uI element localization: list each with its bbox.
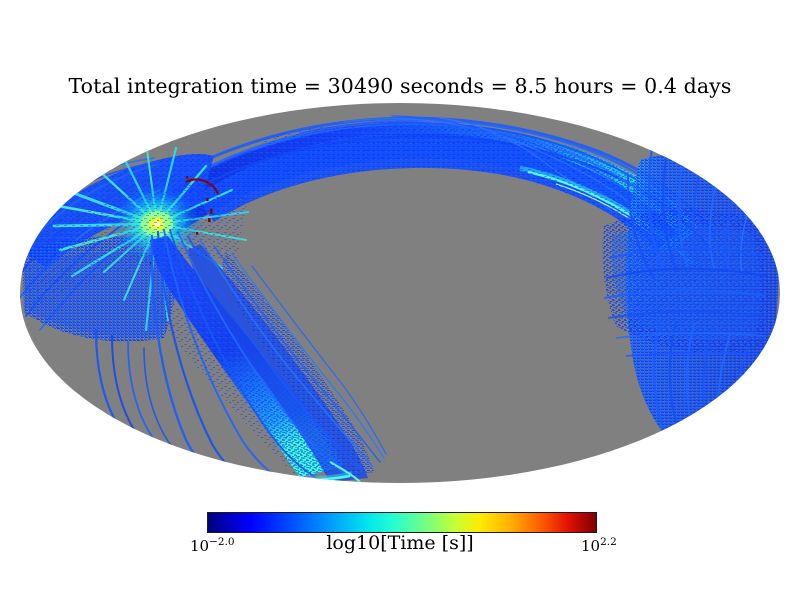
colorbar-max-mantissa: 10 [581,537,600,555]
mollweide-skymap [0,0,800,500]
colorbar-max-label: 102.2 [581,536,617,555]
colorbar-min-exponent: −2.0 [209,536,235,548]
colorbar-min-label: 10−2.0 [190,536,235,555]
skymap-panel [0,0,800,500]
colorbar-max-exponent: 2.2 [600,536,617,548]
colorbar-title: log10[Time [s]] [0,532,800,554]
figure-canvas: Total integration time = 30490 seconds =… [0,0,800,600]
colorbar-gradient[interactable] [207,512,597,533]
colorbar-min-mantissa: 10 [190,537,209,555]
